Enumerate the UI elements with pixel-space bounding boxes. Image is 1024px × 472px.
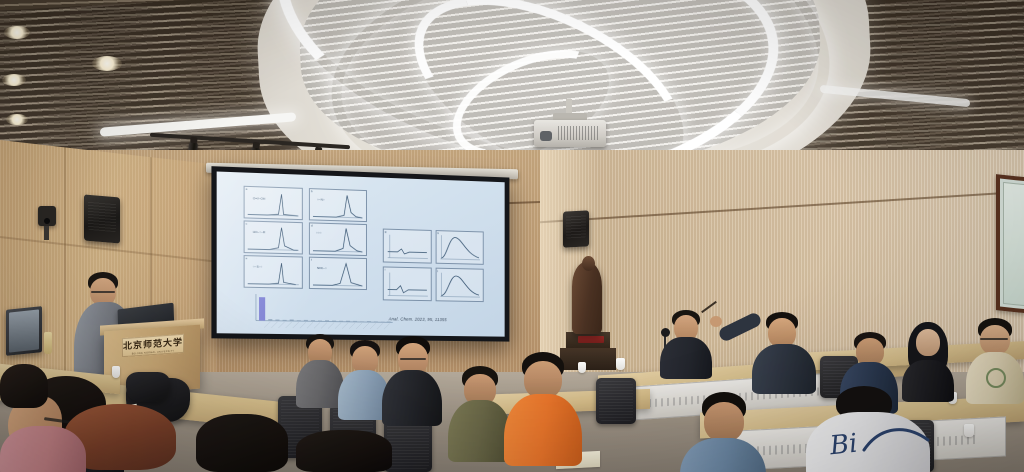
head (704, 402, 744, 442)
audience-gray-blazer (296, 334, 344, 406)
wall-speaker-right (563, 210, 589, 247)
torso (382, 370, 442, 426)
projection-screen-frame: a O=\/−OH b ○−N○ c (211, 166, 509, 341)
audience-cream-sweater (966, 318, 1024, 398)
torso (680, 438, 766, 472)
wall-camera-bracket (44, 226, 49, 240)
panel-label-e: e (246, 256, 248, 260)
audience-pink-top (0, 418, 86, 472)
slide-panel-e: e ○−S−○ (244, 255, 303, 289)
projector-lens (540, 131, 552, 141)
slide-citation: Anal. Chem. 2023, 95, 11355 (389, 316, 447, 322)
audience-center-front-head (296, 430, 392, 472)
presenter-glasses (91, 291, 115, 293)
glasses-icon (400, 358, 426, 360)
slide-panel-c: c HO−○−R (244, 220, 303, 254)
glasses-icon (980, 338, 1008, 340)
statue-plaque (578, 336, 604, 343)
sweater-logo (986, 368, 1006, 388)
panel-label-d: d (311, 223, 313, 227)
panel-label-a: a (246, 187, 248, 191)
suit-man-torso (660, 337, 712, 379)
downlight-2 (92, 56, 122, 71)
panel-e-curve (245, 256, 302, 288)
downlight-1 (4, 26, 30, 39)
audience-black-jacket-glasses (382, 336, 442, 422)
vest-man-hand (710, 316, 722, 327)
head (916, 329, 940, 356)
panel-i-curve (384, 267, 431, 300)
torso (504, 394, 582, 466)
hoodie-print-swash (862, 420, 932, 466)
audience-suit-man (660, 310, 712, 376)
side-monitor (6, 306, 42, 356)
panel-label-h: h (438, 231, 440, 235)
chair-mesh (599, 381, 633, 421)
statue-head (582, 256, 595, 271)
panel-j-curve (437, 269, 483, 301)
audience-orange-sweater (504, 352, 582, 462)
frame-inner (1003, 182, 1024, 306)
torso (0, 426, 86, 472)
panel-label-f: f (311, 258, 312, 262)
panel-a-curve (245, 187, 302, 219)
chair-4 (596, 378, 636, 424)
audience-olive-jacket (448, 366, 512, 458)
downlight-3 (2, 74, 26, 86)
head (980, 325, 1010, 355)
panel-d-curve (310, 223, 366, 255)
panel-label-j: j (438, 269, 439, 273)
audience-denim-shirt (680, 392, 766, 472)
downlight-4 (6, 114, 28, 125)
torso (296, 360, 344, 408)
wall-camera (38, 206, 56, 226)
panel-b-curve (310, 189, 366, 221)
water-bottle (44, 332, 52, 354)
bar-chart-svg (244, 292, 395, 331)
panel-c-curve (245, 221, 302, 253)
hair (296, 430, 392, 472)
selectivity-bar-chart (244, 292, 395, 331)
audience-hoodie-script: Bi (806, 386, 930, 472)
slide-panel-i: i (383, 266, 432, 301)
framed-certificate (996, 174, 1024, 314)
paper-cup-6 (964, 424, 974, 437)
speaker-grill (88, 200, 115, 232)
audience-far-left-head (0, 364, 48, 414)
slide-content: a O=\/−OH b ○−N○ c (229, 177, 499, 333)
wall-speaker-left (84, 194, 120, 243)
slide-panel-b: b ○−N○ (309, 188, 367, 222)
panel-label-g: g (385, 230, 387, 234)
hoodie-print-text: Bi (829, 429, 859, 462)
panel-f-curve (310, 258, 366, 289)
slide-panel-j: j (436, 268, 484, 302)
panel-g-curve (384, 230, 431, 263)
slide-panel-g: g (383, 229, 432, 264)
panel-label-b: b (311, 189, 313, 193)
projector-vent (558, 126, 598, 140)
projection-screen: a O=\/−OH b ○−N○ c (217, 171, 505, 336)
bronze-statue (572, 262, 602, 334)
panel-label-c: c (246, 221, 248, 225)
paper-cup-2 (616, 358, 625, 370)
panel-label-i: i (385, 267, 386, 271)
torso (448, 400, 512, 462)
hair (196, 414, 288, 472)
slide-panel-a: a O=\/−OH (244, 186, 303, 220)
audience-center-back-head (196, 414, 288, 472)
slide-panel-h: h (436, 230, 484, 265)
hair (0, 364, 48, 408)
speaker-grill (566, 215, 586, 239)
panel-h-curve (437, 231, 483, 264)
audience-vest-man (752, 312, 816, 390)
lecture-hall-photo: a O=\/−OH b ○−N○ c (0, 0, 1024, 472)
slide-panel-f: f N≡C−○ (309, 257, 367, 290)
backpack-table (126, 372, 170, 402)
audience-woman-black-coat (900, 322, 956, 392)
monitor-screen (9, 309, 39, 352)
slide-panel-d: d ○○○ (309, 222, 367, 256)
